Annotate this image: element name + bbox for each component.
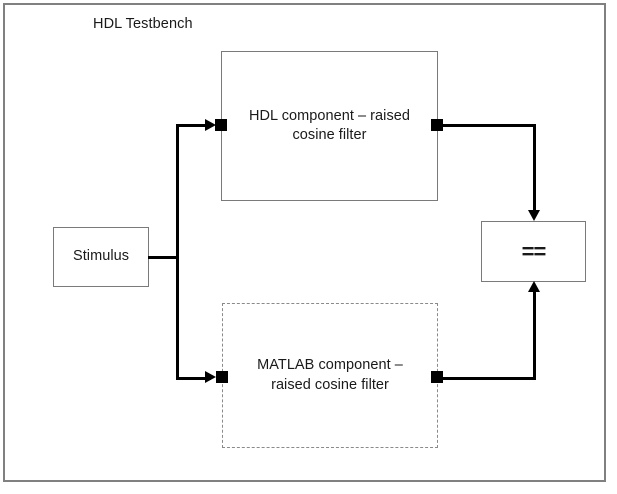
arrowhead-comparator-top-input	[528, 210, 540, 221]
page-title: HDL Testbench	[93, 16, 193, 32]
port-matlab-output[interactable]	[431, 371, 443, 383]
arrowhead-matlab-input	[205, 371, 216, 383]
matlab-component-label-line2: raised cosine filter	[271, 377, 389, 393]
matlab-component-label-line1: MATLAB component –	[257, 357, 403, 373]
hdl-component-label: HDL component – raised cosine filter	[249, 107, 410, 145]
port-hdl-input[interactable]	[215, 119, 227, 131]
port-matlab-input[interactable]	[216, 371, 228, 383]
wire-hdl-out-vertical	[533, 124, 536, 214]
diagram-canvas: HDL Testbench HDL component – raised cos…	[0, 0, 617, 494]
comparator-block[interactable]: ==	[481, 221, 586, 282]
stimulus-label: Stimulus	[73, 247, 129, 266]
hdl-component-block[interactable]: HDL component – raised cosine filter	[221, 51, 438, 201]
matlab-component-label: MATLAB component – raised cosine filter	[257, 356, 403, 394]
wire-hdl-out-horizontal	[440, 124, 536, 127]
wire-stimulus-out	[148, 256, 179, 259]
stimulus-block[interactable]: Stimulus	[53, 227, 149, 287]
port-hdl-output[interactable]	[431, 119, 443, 131]
comparator-label: ==	[522, 241, 546, 263]
wire-matlab-out-vertical	[533, 291, 536, 380]
matlab-component-block[interactable]: MATLAB component – raised cosine filter	[222, 303, 438, 448]
wire-matlab-out-horizontal	[440, 377, 536, 380]
arrowhead-comparator-bottom-input	[528, 281, 540, 292]
hdl-component-label-line2: cosine filter	[293, 127, 367, 143]
wire-trunk-vertical	[176, 124, 179, 380]
hdl-component-label-line1: HDL component – raised	[249, 108, 410, 124]
